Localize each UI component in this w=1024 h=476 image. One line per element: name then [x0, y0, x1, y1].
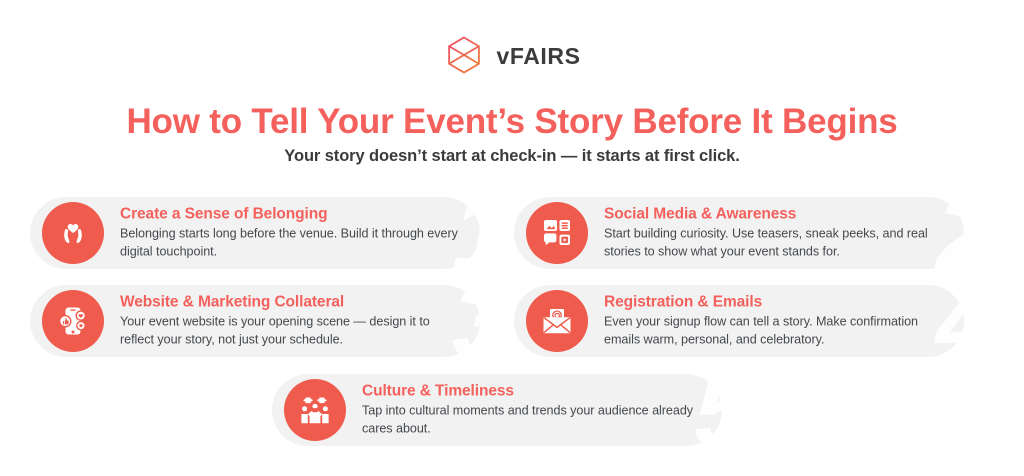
page-subtitle: Your story doesn’t start at check-in — i… — [0, 147, 1024, 166]
phone-engagement-icon — [42, 290, 104, 352]
tip-card-5: 5 Culture & Timeliness Tap into cultural… — [272, 374, 722, 446]
page-title: How to Tell Your Event’s Story Before It… — [0, 103, 1024, 142]
card-title: Culture & Timeliness — [362, 382, 708, 400]
card-title: Website & Marketing Collateral — [120, 293, 466, 311]
card-title: Create a Sense of Belonging — [120, 205, 466, 223]
tip-card-2: 2 Social Media & Awareness Start buildin… — [514, 197, 964, 269]
heart-in-hands-icon — [42, 202, 104, 264]
brand-name: vFAIRS — [496, 43, 580, 68]
card-description: Your event website is your opening scene… — [120, 314, 466, 349]
card-description: Belonging starts long before the venue. … — [120, 226, 466, 261]
card-text-block: Create a Sense of Belonging Belonging st… — [120, 205, 466, 260]
tip-card-1: 1 Create a Sense of Belonging Belonging … — [30, 197, 480, 269]
card-title: Social Media & Awareness — [604, 205, 950, 223]
tip-card-4: 4 Registration & Emails Even your signup… — [514, 285, 964, 357]
infographic-page: vFAIRS How to Tell Your Event’s Story Be… — [0, 0, 1024, 476]
brand-lockup: vFAIRS — [0, 34, 1024, 76]
card-description: Tap into cultural moments and trends you… — [362, 403, 708, 438]
email-envelope-icon — [526, 290, 588, 352]
card-title: Registration & Emails — [604, 293, 950, 311]
social-media-tiles-icon — [526, 202, 588, 264]
hexagon-cube-icon — [443, 34, 485, 76]
card-text-block: Registration & Emails Even your signup f… — [604, 293, 950, 348]
tip-card-3: 3 Website & Marketing Collateral Your ev… — [30, 285, 480, 357]
card-description: Even your signup flow can tell a story. … — [604, 314, 950, 349]
card-description: Start building curiosity. Use teasers, s… — [604, 226, 950, 261]
card-text-block: Website & Marketing Collateral Your even… — [120, 293, 466, 348]
card-text-block: Culture & Timeliness Tap into cultural m… — [362, 382, 708, 437]
people-puzzle-icon — [284, 379, 346, 441]
card-text-block: Social Media & Awareness Start building … — [604, 205, 950, 260]
